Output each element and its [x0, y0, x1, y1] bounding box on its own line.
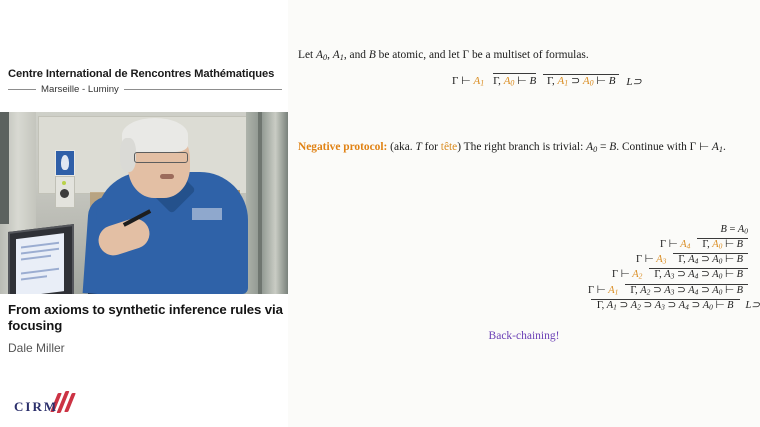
derivation-row-1-right: Γ, A2 ⊃ A3 ⊃ A4 ⊃ A0 ⊢ B — [625, 284, 748, 299]
switch-led-icon — [62, 181, 66, 185]
lead-part-5: be a multiset of formulas. — [469, 49, 589, 61]
divider-left — [8, 89, 36, 90]
derivation-row-4-left: Γ ⊢ A4 — [656, 239, 697, 253]
derivation-row-3: Γ ⊢ A3 Γ, A4 ⊃ A0 ⊢ B — [302, 253, 760, 268]
back-chaining-caption: Back-chaining! — [288, 330, 760, 342]
lecture-meta: From axioms to synthetic inference rules… — [8, 302, 284, 355]
divider-right — [124, 89, 282, 90]
derivation-row-2-right: Γ, A3 ⊃ A4 ⊃ A0 ⊢ B — [649, 268, 748, 283]
switch-knob-icon — [60, 189, 69, 198]
derivation-row-2-left: Γ ⊢ A2 — [608, 269, 649, 283]
screen-text-line — [21, 268, 59, 275]
derivation-row-1-left: Γ ⊢ A1 — [584, 285, 625, 299]
np-body-1: (aka. — [387, 141, 415, 153]
np-body-2: for — [422, 141, 441, 153]
derivation-conclusion: Γ, A1 ⊃ A2 ⊃ A3 ⊃ A4 ⊃ A0 ⊢ B — [591, 299, 740, 314]
derivation-tree: B = A0 Γ ⊢ A4 Γ, A0 ⊢ B Γ ⊢ A3 Γ, A4 ⊃ A… — [302, 224, 760, 314]
speaker-mouth — [160, 174, 174, 179]
lecture-title: From axioms to synthetic inference rules… — [8, 302, 284, 334]
rule-1-conclusion: Γ, A1 ⊃ A0 ⊢ B — [543, 74, 619, 87]
rule-1-premises: Γ ⊢ A1Γ ⊢ A1Γ, A0 ⊢ B — [448, 75, 543, 87]
axiom-formula: B = A0 — [715, 224, 760, 238]
symbol-b: B — [369, 49, 376, 61]
accessibility-sign-icon — [55, 150, 75, 176]
window-right — [246, 112, 288, 294]
laptop-screen — [16, 233, 64, 294]
symbol-a0: A0 — [316, 49, 327, 61]
shirt-logo — [192, 208, 222, 220]
inference-rule-1: Γ ⊢ A1Γ ⊢ A1Γ, A0 ⊢ B Γ, A1 ⊃ A0 ⊢ B L⊃ — [448, 73, 642, 91]
screen-text-line — [21, 255, 51, 261]
rule-1-fraction: Γ ⊢ A1Γ ⊢ A1Γ, A0 ⊢ B Γ, A1 ⊃ A0 ⊢ B — [448, 73, 619, 91]
derivation-row-4-right: Γ, A0 ⊢ B — [697, 238, 748, 253]
derivation-label: L⊃ — [740, 300, 760, 313]
np-continuation: Γ ⊢ A1 — [690, 141, 723, 153]
lecture-author: Dale Miller — [8, 341, 284, 355]
window-frame — [258, 112, 262, 294]
screen-text-line — [21, 248, 59, 255]
negative-protocol-paragraph: Negative protocol: (aka. T for tête) The… — [298, 140, 750, 157]
derivation-row-axiom: B = A0 — [302, 224, 760, 238]
cirm-logo: CIRM — [14, 392, 104, 420]
wall-switch — [55, 176, 75, 208]
slide-area: Let A0, A1, and B be atomic, and let Γ b… — [288, 0, 760, 427]
left-sidebar: Centre International de Rencontres Mathé… — [0, 0, 290, 427]
glasses-icon — [134, 152, 188, 163]
lead-part-1: Let — [298, 49, 316, 61]
rule-1-label: L⊃ — [619, 75, 641, 88]
derivation-row-3-right: Γ, A4 ⊃ A0 ⊢ B — [673, 253, 748, 268]
door-edge — [0, 112, 9, 224]
cirm-branding: Centre International de Rencontres Mathé… — [8, 68, 282, 95]
derivation-row-conclusion: Γ, A1 ⊃ A2 ⊃ A3 ⊃ A4 ⊃ A0 ⊢ B L⊃ — [302, 299, 760, 314]
institution-location-row: Marseille - Luminy — [8, 84, 282, 95]
negative-protocol-heading: Negative protocol: — [298, 141, 387, 153]
symbol-a1: A1 — [333, 49, 344, 61]
rule-1-left-premise: Γ ⊢ A1Γ ⊢ A1 — [452, 75, 484, 87]
institution-name: Centre International de Rencontres Mathé… — [8, 68, 282, 80]
np-body-3: ) The right branch is trivial: — [457, 141, 586, 153]
derivation-row-3-left: Γ ⊢ A3 — [632, 254, 673, 268]
lecture-player-page: Centre International de Rencontres Mathé… — [0, 0, 760, 427]
institution-location: Marseille - Luminy — [41, 84, 119, 95]
np-body-5: . — [723, 141, 726, 153]
lead-part-3: , and — [344, 49, 369, 61]
screen-text-line — [21, 275, 47, 280]
laptop — [8, 224, 74, 294]
np-body-4: . Continue with — [616, 141, 689, 153]
np-tete: tête — [441, 141, 457, 153]
video-thumbnail[interactable] — [0, 112, 288, 294]
derivation-row-1: Γ ⊢ A1 Γ, A2 ⊃ A3 ⊃ A4 ⊃ A0 ⊢ B — [302, 284, 760, 299]
slide-lead-sentence: Let A0, A1, and B be atomic, and let Γ b… — [298, 48, 750, 65]
lead-part-4: be atomic, and let — [376, 49, 463, 61]
cirm-logo-text: CIRM — [14, 399, 58, 415]
np-equation: A0 = B — [586, 141, 616, 153]
derivation-row-4: Γ ⊢ A4 Γ, A0 ⊢ B — [302, 238, 760, 253]
rule-1-right-premise: Γ, A0 ⊢ B — [493, 73, 536, 90]
derivation-row-2: Γ ⊢ A2 Γ, A3 ⊃ A4 ⊃ A0 ⊢ B — [302, 268, 760, 283]
